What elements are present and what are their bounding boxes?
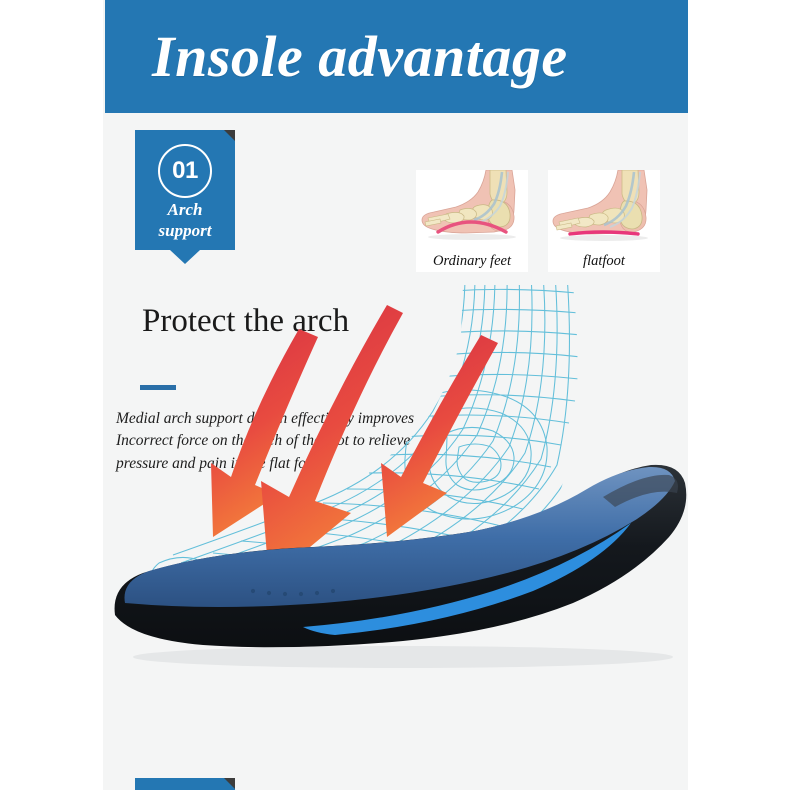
section-badge-01: 01 Arch support bbox=[135, 130, 235, 250]
badge-label-line1: Arch bbox=[139, 199, 231, 220]
header-banner: Insole advantage bbox=[105, 0, 688, 113]
page-root: Insole advantage 01 Arch support 02 bbox=[0, 0, 790, 790]
badge-fold-corner bbox=[224, 130, 235, 141]
badge-fold-corner bbox=[224, 778, 235, 789]
comparison-card-caption: Ordinary feet bbox=[416, 254, 528, 269]
badge-point bbox=[170, 250, 200, 264]
insole-shadow bbox=[133, 646, 673, 668]
page-title: Insole advantage bbox=[152, 28, 568, 86]
badge-body: 02 bbox=[135, 778, 235, 790]
badge-body: 01 Arch support bbox=[135, 130, 235, 250]
section-badge-02: 02 bbox=[135, 778, 235, 790]
badge-label: Arch support bbox=[135, 199, 235, 250]
comparison-card-caption: flatfoot bbox=[548, 254, 660, 269]
badge-circle: 01 bbox=[158, 144, 212, 198]
badge-number: 01 bbox=[172, 159, 198, 183]
insole-arch-illustration bbox=[103, 285, 703, 705]
ordinary-foot-anatomy-icon bbox=[416, 170, 528, 246]
comparison-card-ordinary-feet: Ordinary feet bbox=[416, 170, 528, 272]
badge-label-line2: support bbox=[139, 220, 231, 241]
comparison-card-flatfoot: flatfoot bbox=[548, 170, 660, 272]
flatfoot-anatomy-icon bbox=[548, 170, 660, 246]
pressure-arrow-center bbox=[261, 305, 403, 581]
